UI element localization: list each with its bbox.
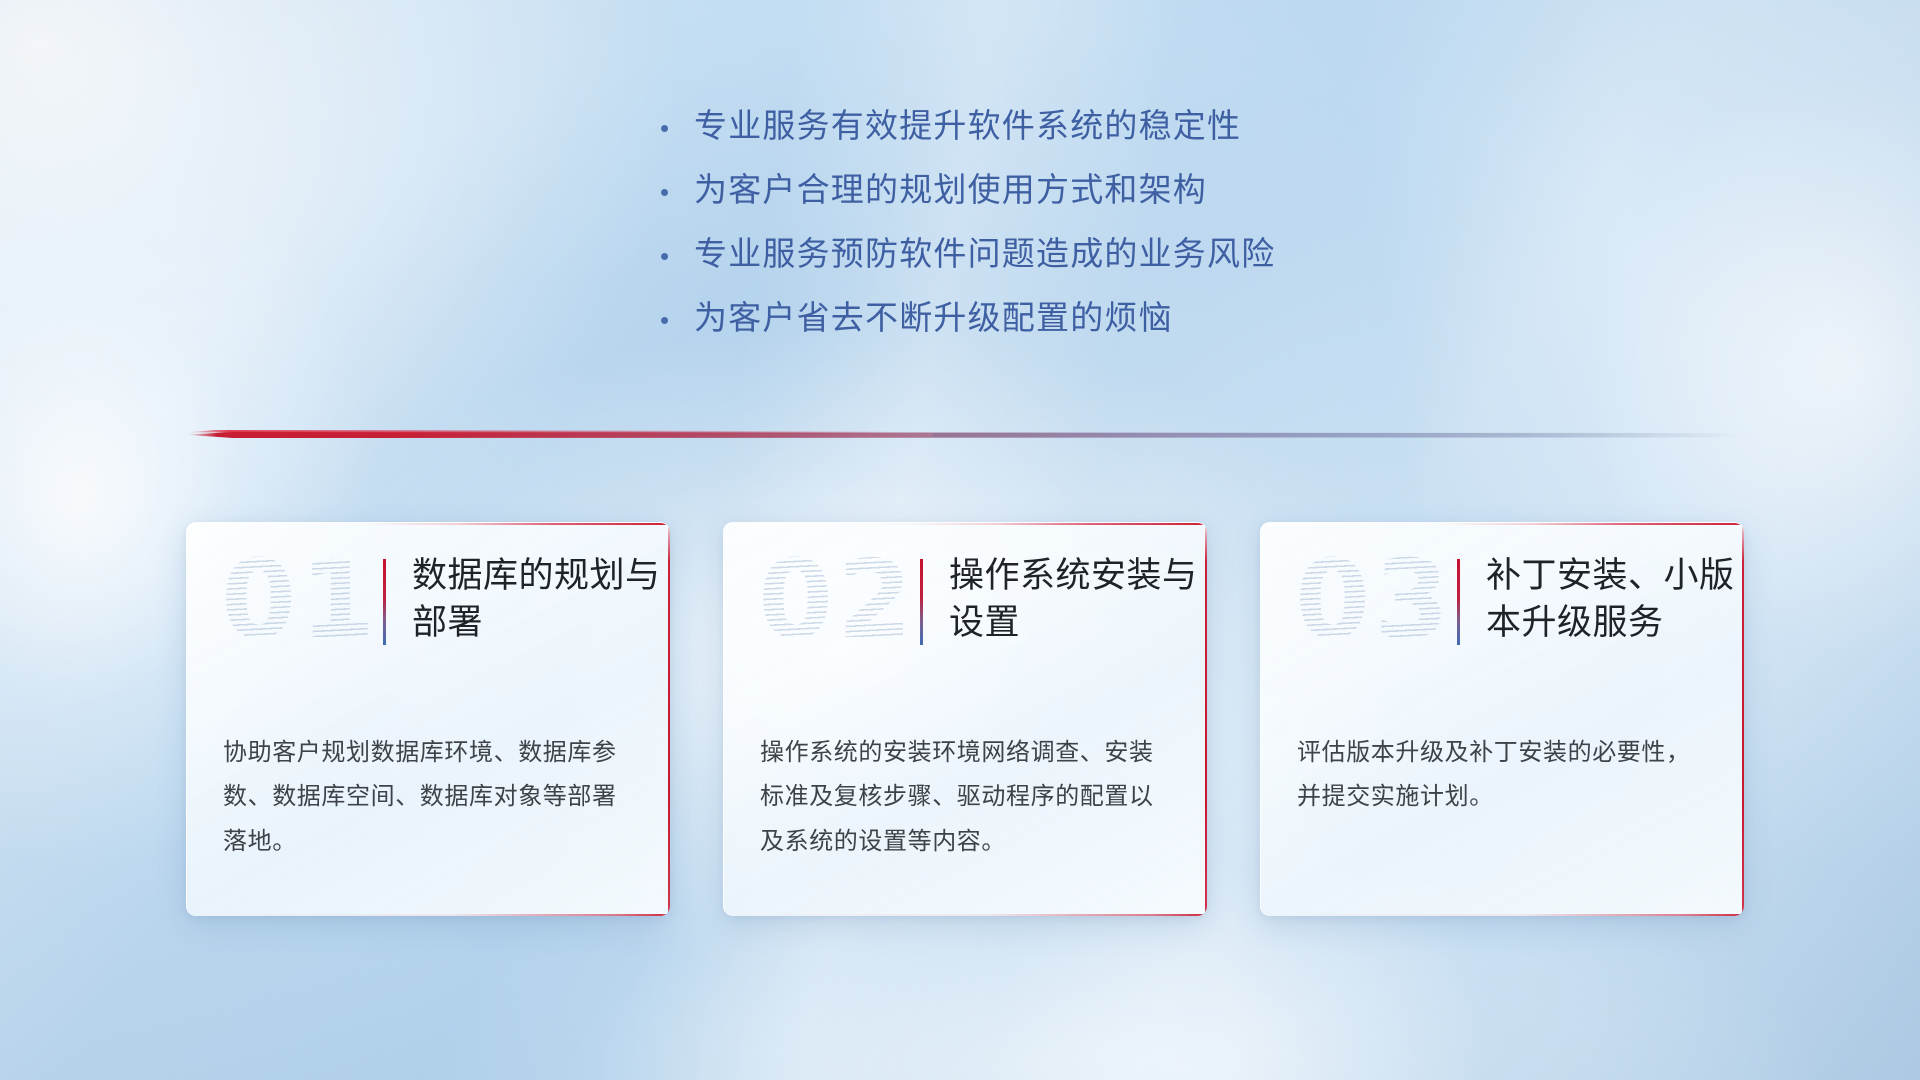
card-bottom-accent-line (187, 914, 670, 916)
card-right-accent-line (1205, 523, 1208, 916)
card-title: 补丁安装、小版本升级服务 (1486, 553, 1736, 647)
card-right-accent-line (1742, 523, 1745, 916)
bullet-text: 为客户合理的规划使用方式和架构 (694, 172, 1207, 208)
card-header: 操作系统安装与设置 (920, 553, 1199, 647)
card-top-accent-line (187, 523, 670, 525)
card-accent-bar (1457, 559, 1460, 645)
bullet-marker-icon: • (660, 307, 694, 333)
service-card-group: 01 数据库的规划与部署 协助客户规划数据库环境、数据库参数、数据库空间、数据库… (186, 522, 1746, 922)
slide-canvas: • 专业服务有效提升软件系统的稳定性 • 为客户合理的规划使用方式和架构 • 专… (0, 0, 1920, 1080)
card-accent-bar (383, 559, 386, 645)
service-card-01[interactable]: 01 数据库的规划与部署 协助客户规划数据库环境、数据库参数、数据库空间、数据库… (186, 522, 670, 916)
service-card-02[interactable]: 02 操作系统安装与设置 操作系统的安装环境网络调查、安装标准及复核步骤、驱动程… (723, 522, 1207, 916)
card-bottom-accent-line (1261, 914, 1744, 916)
card-header: 数据库的规划与部署 (383, 553, 662, 647)
bullet-text: 为客户省去不断升级配置的烦恼 (694, 300, 1173, 336)
section-divider (186, 424, 1742, 446)
bullet-item: • 专业服务预防软件问题造成的业务风险 (660, 236, 1420, 300)
divider-fade-tail (933, 433, 1742, 437)
bullet-item: • 为客户省去不断升级配置的烦恼 (660, 300, 1420, 364)
card-title: 操作系统安装与设置 (949, 553, 1199, 647)
bullet-marker-icon: • (660, 179, 694, 205)
card-description: 协助客户规划数据库环境、数据库参数、数据库空间、数据库对象等部署落地。 (223, 731, 636, 864)
benefits-bullet-list: • 专业服务有效提升软件系统的稳定性 • 为客户合理的规划使用方式和架构 • 专… (660, 108, 1420, 364)
card-title: 数据库的规划与部署 (412, 553, 662, 647)
card-accent-bar (920, 559, 923, 645)
card-top-accent-line (1261, 523, 1744, 525)
card-description: 评估版本升级及补丁安装的必要性，并提交实施计划。 (1297, 731, 1710, 820)
card-right-accent-line (668, 523, 671, 916)
card-header: 补丁安装、小版本升级服务 (1457, 553, 1736, 647)
bullet-marker-icon: • (660, 115, 694, 141)
card-top-accent-line (724, 523, 1207, 525)
service-card-03[interactable]: 03 补丁安装、小版本升级服务 评估版本升级及补丁安装的必要性，并提交实施计划。 (1260, 522, 1744, 916)
bullet-text: 专业服务有效提升软件系统的稳定性 (694, 108, 1241, 144)
card-number-watermark: 01 (221, 547, 379, 655)
card-number-watermark: 02 (758, 547, 916, 655)
card-description: 操作系统的安装环境网络调查、安装标准及复核步骤、驱动程序的配置以及系统的设置等内… (760, 731, 1173, 864)
bullet-text: 专业服务预防软件问题造成的业务风险 (694, 236, 1275, 272)
bullet-item: • 为客户合理的规划使用方式和架构 (660, 172, 1420, 236)
card-bottom-accent-line (724, 914, 1207, 916)
bullet-marker-icon: • (660, 243, 694, 269)
card-number-watermark: 03 (1295, 547, 1453, 655)
bullet-item: • 专业服务有效提升软件系统的稳定性 (660, 108, 1420, 172)
